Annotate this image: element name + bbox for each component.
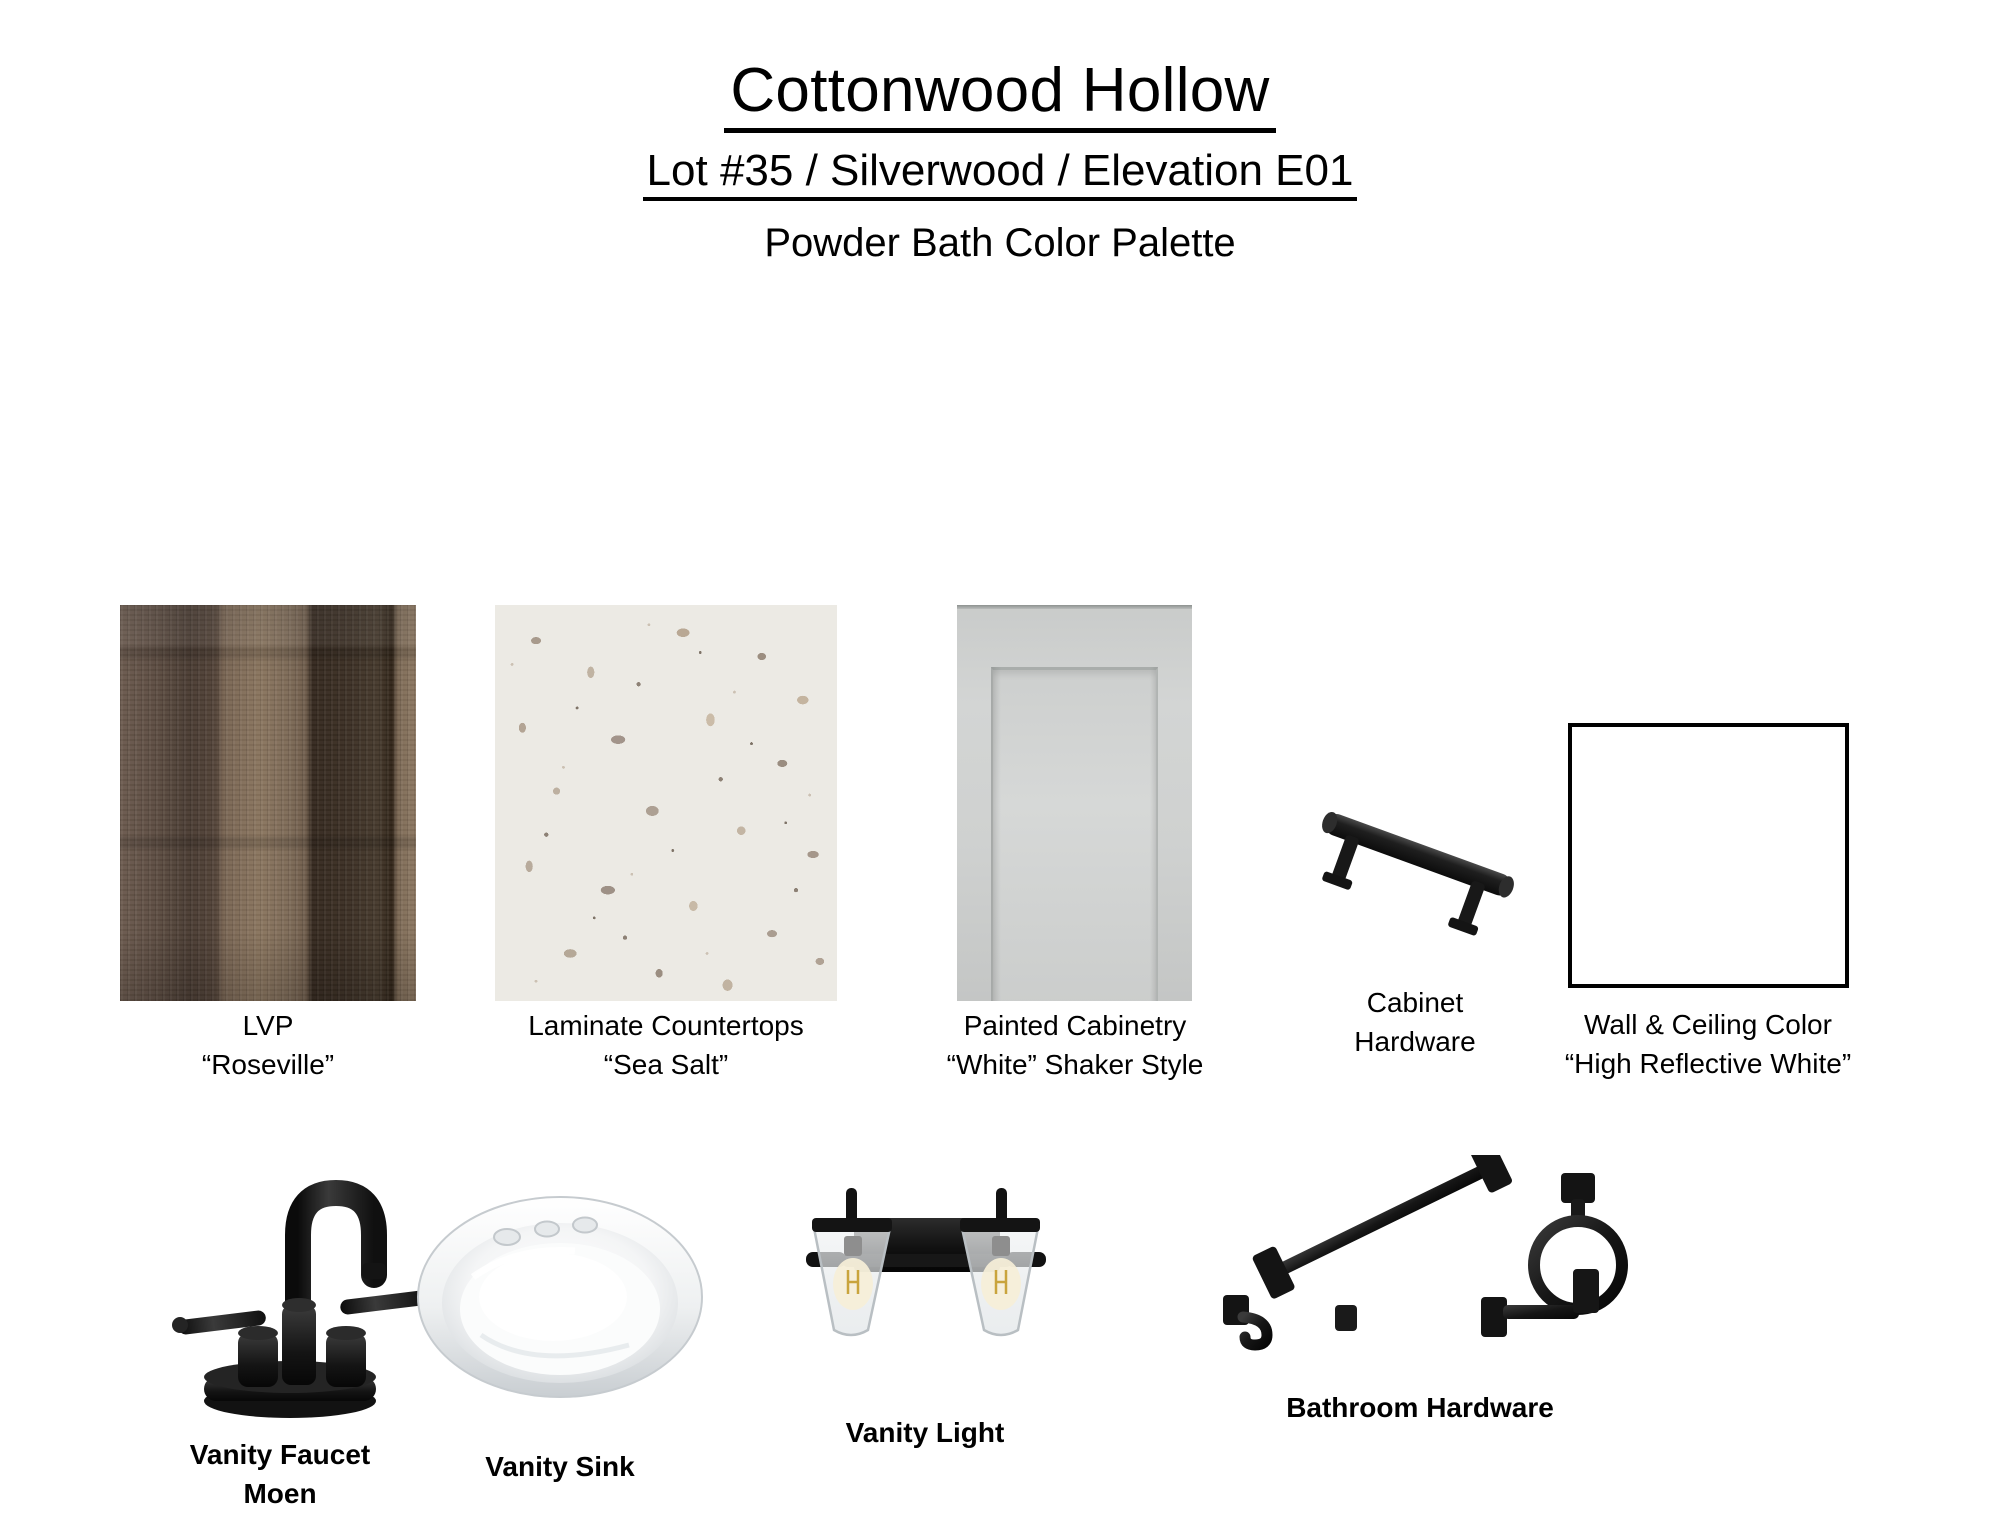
countertop-swatch[interactable] — [495, 605, 837, 1001]
sink-icon[interactable] — [415, 1185, 705, 1405]
bathroom-hardware-label: Bathroom Hardware — [1185, 1389, 1655, 1428]
vanity-light-icon[interactable] — [790, 1170, 1060, 1385]
finish-item-wall-ceiling-color[interactable]: Wall & Ceiling Color “High Reflective Wh… — [1568, 723, 1849, 1083]
faucet-icon[interactable] — [130, 1155, 430, 1425]
cabinet-door-swatch[interactable] — [957, 605, 1192, 1001]
vanity-light-label: Vanity Light — [790, 1414, 1060, 1453]
bath-accessories-icon[interactable] — [1185, 1155, 1655, 1370]
fixture-item-bathroom-hardware[interactable]: Bathroom Hardware — [1185, 1155, 1655, 1428]
finish-item-lvp[interactable]: LVP “Roseville” — [120, 605, 416, 1084]
lvp-label: LVP “Roseville” — [120, 1007, 416, 1084]
page-subtitle: Lot #35 / Silverwood / Elevation E01 — [643, 147, 1358, 201]
countertop-label: Laminate Countertops “Sea Salt” — [495, 1007, 837, 1084]
fixture-item-vanity-sink[interactable]: Vanity Sink — [415, 1185, 705, 1487]
bar-pull-icon[interactable] — [1290, 755, 1540, 965]
page-title: Cottonwood Hollow — [724, 58, 1275, 133]
door-inset-panel — [991, 667, 1158, 1001]
page-header: Cottonwood Hollow Lot #35 / Silverwood /… — [0, 0, 2000, 265]
title-line: Cottonwood Hollow — [0, 58, 2000, 133]
subtitle-line: Lot #35 / Silverwood / Elevation E01 — [0, 147, 2000, 201]
lvp-swatch[interactable] — [120, 605, 416, 1001]
fixture-item-vanity-light[interactable]: Vanity Light — [790, 1170, 1060, 1453]
finish-item-laminate-countertops[interactable]: Laminate Countertops “Sea Salt” — [495, 605, 837, 1084]
vanity-sink-label: Vanity Sink — [415, 1448, 705, 1487]
wall-color-swatch[interactable] — [1568, 723, 1849, 988]
vanity-faucet-label: Vanity Faucet Moen — [130, 1436, 430, 1513]
page-section-title: Powder Bath Color Palette — [0, 221, 2000, 265]
wall-color-label: Wall & Ceiling Color “High Reflective Wh… — [1498, 1006, 1918, 1083]
finish-item-painted-cabinetry[interactable]: Painted Cabinetry “White” Shaker Style — [957, 605, 1192, 1084]
cabinetry-label: Painted Cabinetry “White” Shaker Style — [875, 1007, 1275, 1084]
fixture-item-vanity-faucet[interactable]: Vanity Faucet Moen — [130, 1155, 430, 1513]
door-inset-shadow-left — [991, 667, 1001, 1001]
door-top-rail — [957, 605, 1192, 609]
door-inset-shadow-right — [1150, 667, 1158, 1001]
